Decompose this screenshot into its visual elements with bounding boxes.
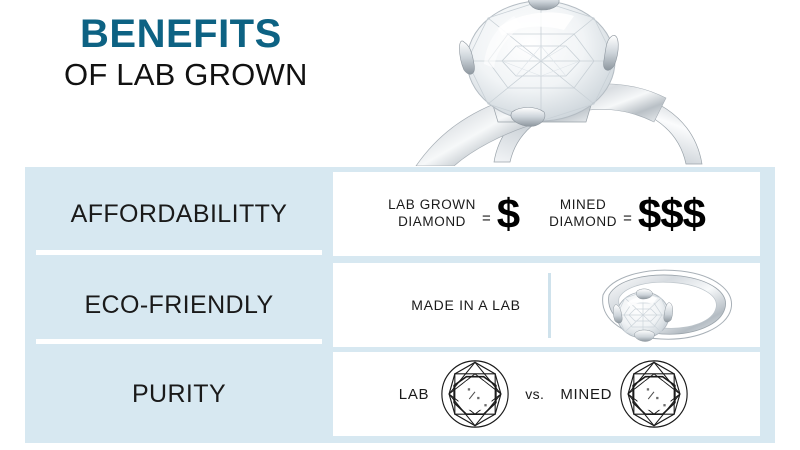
row-divider <box>36 250 322 255</box>
price-label-line2: DIAMOND <box>398 214 466 229</box>
page-title: BENEFITS <box>62 14 392 55</box>
vertical-divider <box>548 273 551 338</box>
price-item-mined: MINED DIAMOND = $$$ <box>549 194 705 234</box>
price-label-mined: MINED DIAMOND <box>549 197 617 231</box>
row-label-purity: PURITY <box>25 352 333 436</box>
price-label-lab-grown: LAB GROWN DIAMOND <box>388 197 476 231</box>
eco-ring-image <box>589 265 739 345</box>
row-content-affordability: LAB GROWN DIAMOND = $ MINED DIAMOND = $$… <box>333 172 760 256</box>
hero-ring-image <box>398 0 728 166</box>
price-item-lab-grown: LAB GROWN DIAMOND = $ <box>388 194 519 234</box>
price-value-lab: $ <box>497 194 519 234</box>
equals-sign-mined: = <box>623 210 632 227</box>
made-in-a-lab-text: MADE IN A LAB <box>385 263 547 347</box>
header: BENEFITS OF LAB GROWN <box>0 0 800 167</box>
title-block: BENEFITS OF LAB GROWN <box>62 14 392 91</box>
round-brilliant-diamond-icon <box>618 358 690 430</box>
price-value-mined: $$$ <box>638 194 705 234</box>
price-label-line1: MINED <box>560 197 607 212</box>
price-label-line1: LAB GROWN <box>388 197 476 212</box>
row-label-eco-friendly: ECO-FRIENDLY <box>25 263 333 347</box>
table-row: AFFORDABILITTY LAB GROWN DIAMOND = $ MIN… <box>25 172 775 256</box>
equals-sign-lab: = <box>482 210 491 227</box>
row-divider <box>36 339 322 344</box>
purity-label-lab: LAB <box>399 386 429 403</box>
purity-separator: vs. <box>525 386 544 402</box>
row-content-purity: LAB <box>333 352 760 436</box>
purity-label-mined: MINED <box>560 386 612 403</box>
row-label-affordability: AFFORDABILITTY <box>25 172 333 256</box>
table-row: ECO-FRIENDLY MADE IN A LAB <box>25 263 775 347</box>
price-label-line2: DIAMOND <box>549 214 617 229</box>
table-row: PURITY LAB <box>25 352 775 436</box>
row-content-eco-friendly: MADE IN A LAB <box>333 263 760 347</box>
round-brilliant-diamond-icon <box>439 358 511 430</box>
page-subtitle: OF LAB GROWN <box>62 59 392 92</box>
benefits-table: AFFORDABILITTY LAB GROWN DIAMOND = $ MIN… <box>25 167 775 443</box>
